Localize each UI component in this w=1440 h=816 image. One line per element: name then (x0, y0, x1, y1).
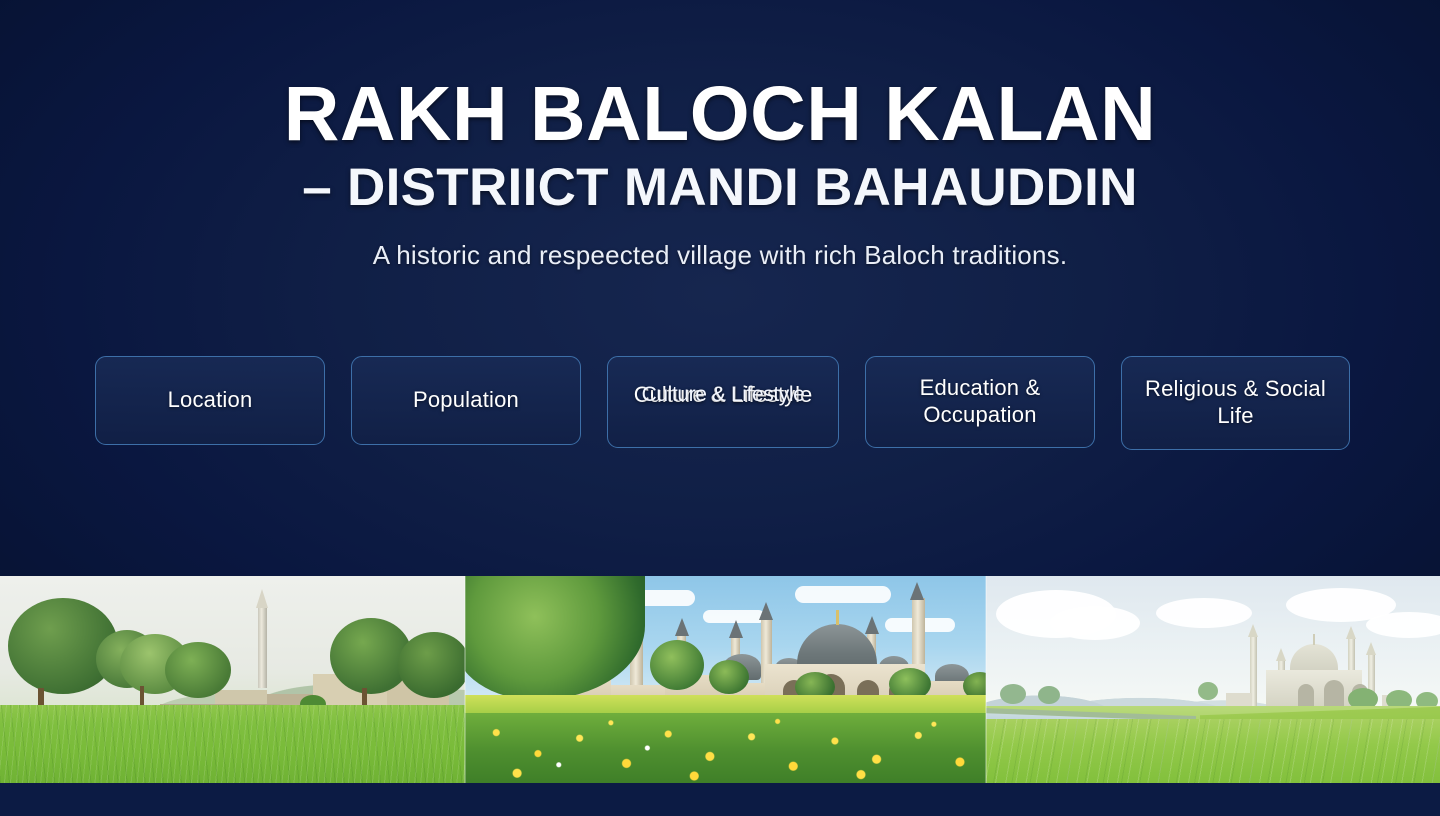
cloud (795, 586, 891, 603)
gallery-divider (985, 576, 987, 783)
tree (1000, 684, 1026, 704)
wheat-field (0, 705, 465, 783)
nav-card-label: Education & Occupation (866, 375, 1094, 429)
hero-section: RAKH BALOCH KALAN – DISTRIICT MANDI BAHA… (0, 0, 1440, 575)
arch (1298, 684, 1314, 708)
crop-field (986, 719, 1440, 783)
nav-card-label-overlay: Culture & Lifestyle (608, 382, 838, 408)
nav-card-label: Population (405, 387, 527, 414)
flower-field (465, 713, 986, 783)
mosque-facade (1266, 670, 1362, 708)
nav-card-label: Religious & Social Life (1122, 376, 1349, 430)
nav-card-education-occupation[interactable]: Education & Occupation (865, 356, 1095, 448)
gallery-strip (0, 576, 1440, 783)
nav-card-culture-lifestyle[interactable]: Culture & Lifestyle Culture & Lifestyle (607, 356, 839, 448)
cloud (1050, 606, 1140, 640)
arch (1324, 680, 1344, 708)
nav-card-label: Location (160, 387, 261, 414)
gallery-image-mosque-flowers (465, 576, 986, 783)
gallery-divider (464, 576, 466, 783)
tree (398, 632, 465, 698)
page-root: RAKH BALOCH KALAN – DISTRIICT MANDI BAHA… (0, 0, 1440, 816)
tree (650, 640, 704, 690)
section-nav-cards: Location Population Culture & Lifestyle … (95, 356, 1350, 445)
title-main-line: RAKH BALOCH KALAN (0, 78, 1440, 151)
tree (1038, 686, 1060, 704)
tree (1198, 682, 1218, 700)
cloud (1156, 598, 1252, 628)
tree (165, 642, 231, 698)
nav-card-location[interactable]: Location (95, 356, 325, 445)
tree (709, 660, 749, 694)
gallery-image-canal-fields (986, 576, 1440, 783)
nav-card-religious-social-life[interactable]: Religious & Social Life (1121, 356, 1350, 450)
page-title: RAKH BALOCH KALAN – DISTRIICT MANDI BAHA… (0, 78, 1440, 214)
hero-tagline: A historic and respeected village with r… (0, 240, 1440, 271)
nav-card-population[interactable]: Population (351, 356, 581, 445)
gallery-image-village (0, 576, 465, 783)
title-subtitle-line: – DISTRIICT MANDI BAHAUDDIN (0, 161, 1440, 214)
footer-bar (0, 783, 1440, 816)
